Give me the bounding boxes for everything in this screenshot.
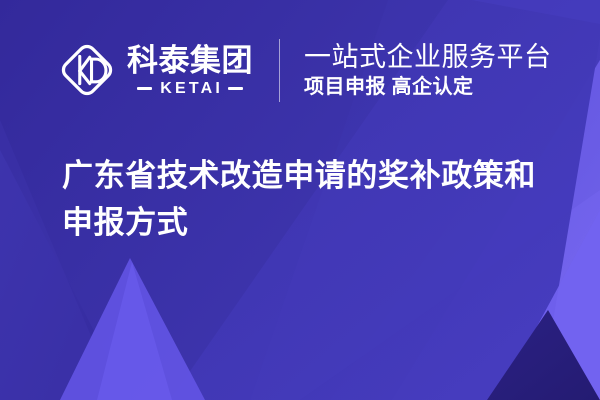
brand-name-en: KETAI <box>157 80 223 97</box>
header-divider <box>279 39 280 102</box>
tagline-secondary: 项目申报 高企认定 <box>304 76 552 99</box>
headline: 广东省技术改造申请的奖补政策和 申报方式 <box>62 152 562 246</box>
tagline-primary: 一站式企业服务平台 <box>304 42 552 73</box>
tagline-block: 一站式企业服务平台 项目申报 高企认定 <box>304 42 552 99</box>
headline-line-2: 申报方式 <box>62 199 562 246</box>
dash-right-icon <box>228 87 243 90</box>
ketai-diamond-kd-monogram-icon <box>58 41 116 99</box>
promo-banner: 科泰集团 KETAI 一站式企业服务平台 项目申报 高企认定 广东省技术改造申请… <box>0 0 600 400</box>
headline-line-1: 广东省技术改造申请的奖补政策和 <box>62 152 562 199</box>
brand-name-en-row: KETAI <box>127 80 253 97</box>
brand-wordmark: 科泰集团 KETAI <box>127 44 253 97</box>
dash-left-icon <box>137 87 152 90</box>
brand-name-cn: 科泰集团 <box>127 44 253 78</box>
banner-header: 科泰集团 KETAI 一站式企业服务平台 项目申报 高企认定 <box>0 0 600 140</box>
brand-logo[interactable]: 科泰集团 KETAI <box>58 41 253 99</box>
